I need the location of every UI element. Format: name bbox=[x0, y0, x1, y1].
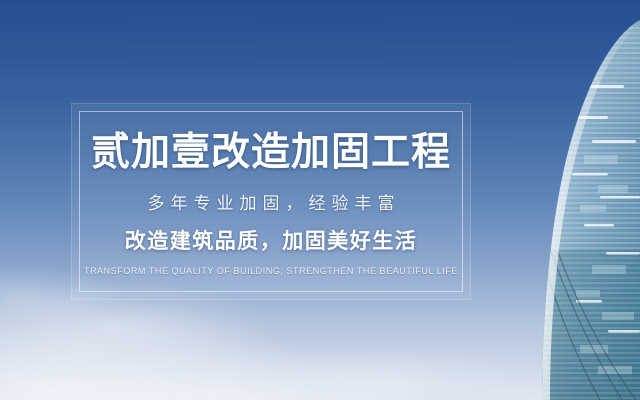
skyscraper-image bbox=[480, 0, 640, 400]
tower-body bbox=[480, 0, 640, 400]
hero-text-content: 贰加壹改造加固工程 多年专业加固，经验丰富 改造建筑品质，加固美好生活 TRAN… bbox=[71, 103, 471, 300]
hero-banner: 贰加壹改造加固工程 多年专业加固，经验丰富 改造建筑品质，加固美好生活 TRAN… bbox=[0, 0, 640, 400]
hero-subtitle: 多年专业加固，经验丰富 bbox=[142, 194, 401, 214]
hero-slogan: 改造建筑品质，加固美好生活 bbox=[125, 229, 418, 254]
hero-english-tagline: TRANSFORM THE QUALITY OF BUILDING, STREN… bbox=[84, 266, 458, 277]
hero-text-panel: 贰加壹改造加固工程 多年专业加固，经验丰富 改造建筑品质，加固美好生活 TRAN… bbox=[71, 103, 471, 300]
page-title: 贰加壹改造加固工程 bbox=[91, 133, 451, 174]
